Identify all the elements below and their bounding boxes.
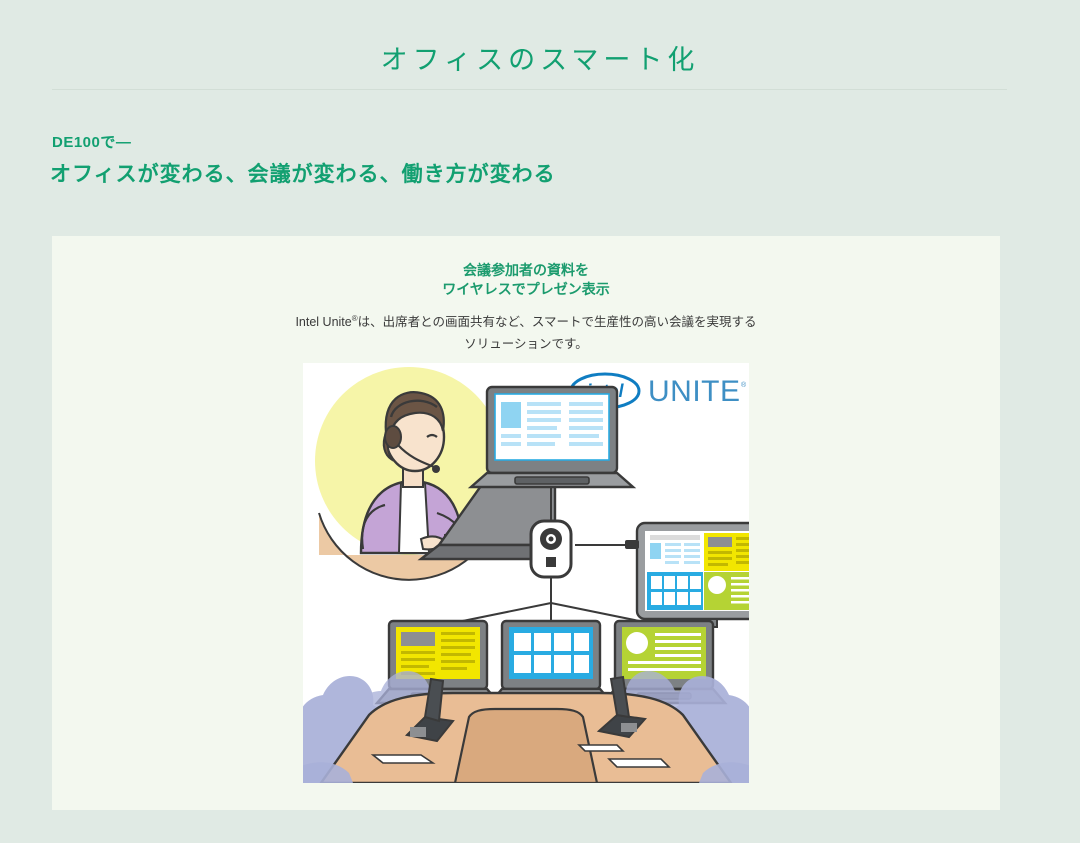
title-divider <box>52 89 1007 90</box>
participant-laptop-blue-icon <box>490 621 612 703</box>
card-heading-line-1: 会議参加者の資料を <box>52 261 1000 280</box>
lead-headline: オフィスが変わる、会議が変わる、働き方が変わる <box>50 158 556 188</box>
svg-text:UNITE: UNITE <box>648 375 741 408</box>
illustration-canvas: intel UNITE ® <box>303 363 749 783</box>
card-body: Intel Unite®は、出席者との画面共有など、スマートで生産性の高い会議を… <box>52 308 1000 355</box>
meeting-room-display-icon <box>625 523 749 627</box>
card-body-line-2: ソリューションです。 <box>52 333 1000 355</box>
conference-camera-icon <box>531 521 571 577</box>
card-body-line-1: Intel Unite®は、出席者との画面共有など、スマートで生産性の高い会議を… <box>52 308 1000 333</box>
shared-screen-laptop-icon <box>471 387 633 487</box>
page-root: オフィスのスマート化 DE100で— オフィスが変わる、会議が変わる、働き方が変… <box>0 0 1080 843</box>
feature-card: 会議参加者の資料を ワイヤレスでプレゼン表示 Intel Unite®は、出席者… <box>52 236 1000 810</box>
intel-unite-illustration: intel UNITE ® <box>303 363 749 783</box>
card-heading: 会議参加者の資料を ワイヤレスでプレゼン表示 <box>52 261 1000 299</box>
card-heading-line-2: ワイヤレスでプレゼン表示 <box>52 280 1000 299</box>
product-name: Intel Unite <box>295 315 351 329</box>
lead-eyebrow: DE100で— <box>52 131 131 152</box>
page-title: オフィスのスマート化 <box>0 38 1080 77</box>
card-body-line-1-rest: は、出席者との画面共有など、スマートで生産性の高い会議を実現する <box>358 315 757 329</box>
svg-text:®: ® <box>741 381 747 389</box>
